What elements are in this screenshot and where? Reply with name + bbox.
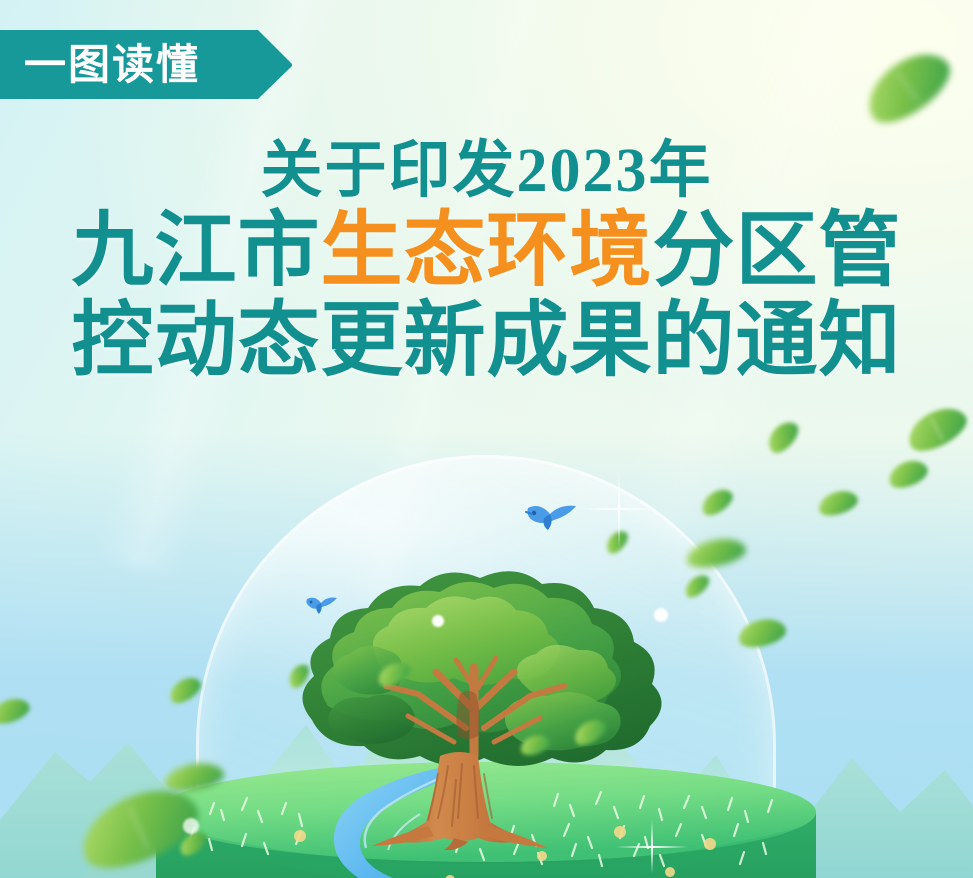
title-line-2-highlight: 生态环境	[320, 205, 652, 296]
title-line-2-pre: 九江市	[71, 205, 320, 296]
infographic-poster: 一图读懂 关于印发2023年 九江市生态环境分区管 控动态更新成果的通知	[0, 0, 973, 878]
title-line-1: 关于印发2023年	[0, 140, 973, 202]
sparkle	[654, 608, 668, 622]
sparkle-star	[580, 470, 658, 548]
bird-large-icon	[524, 500, 582, 541]
title-line-2-post: 分区管	[653, 205, 902, 296]
page-title: 关于印发2023年 九江市生态环境分区管 控动态更新成果的通知	[0, 140, 973, 382]
title-line-2: 九江市生态环境分区管	[0, 210, 973, 292]
title-line-3: 控动态更新成果的通知	[0, 300, 973, 382]
sparkle	[432, 615, 444, 627]
banner-label: 一图读懂	[24, 44, 200, 86]
bird-small-icon	[305, 594, 339, 621]
sparkle	[183, 818, 199, 834]
read-at-a-glance-banner: 一图读懂	[0, 30, 292, 99]
sparkle-star	[616, 820, 688, 874]
